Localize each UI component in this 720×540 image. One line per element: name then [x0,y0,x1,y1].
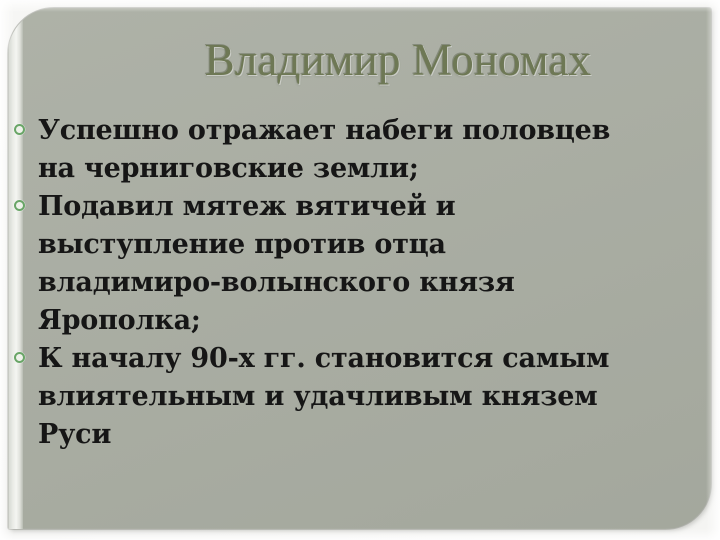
ring-bullet-icon [14,352,25,363]
list-item-text: Подавил мятеж вятичей и выступление прот… [38,188,631,340]
slide-body: Владимир Мономах Успешно отражает набеги… [8,8,711,529]
list-item-text: К началу 90-х гг. становится самым влият… [38,340,631,454]
list-item: К началу 90-х гг. становится самым влият… [8,340,711,454]
page-title: Владимир Мономах [135,37,592,84]
title-placeholder: Владимир Мономах [48,24,678,98]
list-item-text: Успешно отражает набеги половцев на черн… [38,112,631,188]
bullet-list: Успешно отражает набеги половцев на черн… [8,112,711,454]
slide-canvas: Владимир Мономах Успешно отражает набеги… [0,0,720,540]
ring-bullet-icon [14,124,25,135]
list-item: Подавил мятеж вятичей и выступление прот… [8,188,711,340]
list-item: Успешно отражает набеги половцев на черн… [8,112,711,188]
ring-bullet-icon [14,200,25,211]
content-placeholder: Успешно отражает набеги половцев на черн… [8,112,711,454]
